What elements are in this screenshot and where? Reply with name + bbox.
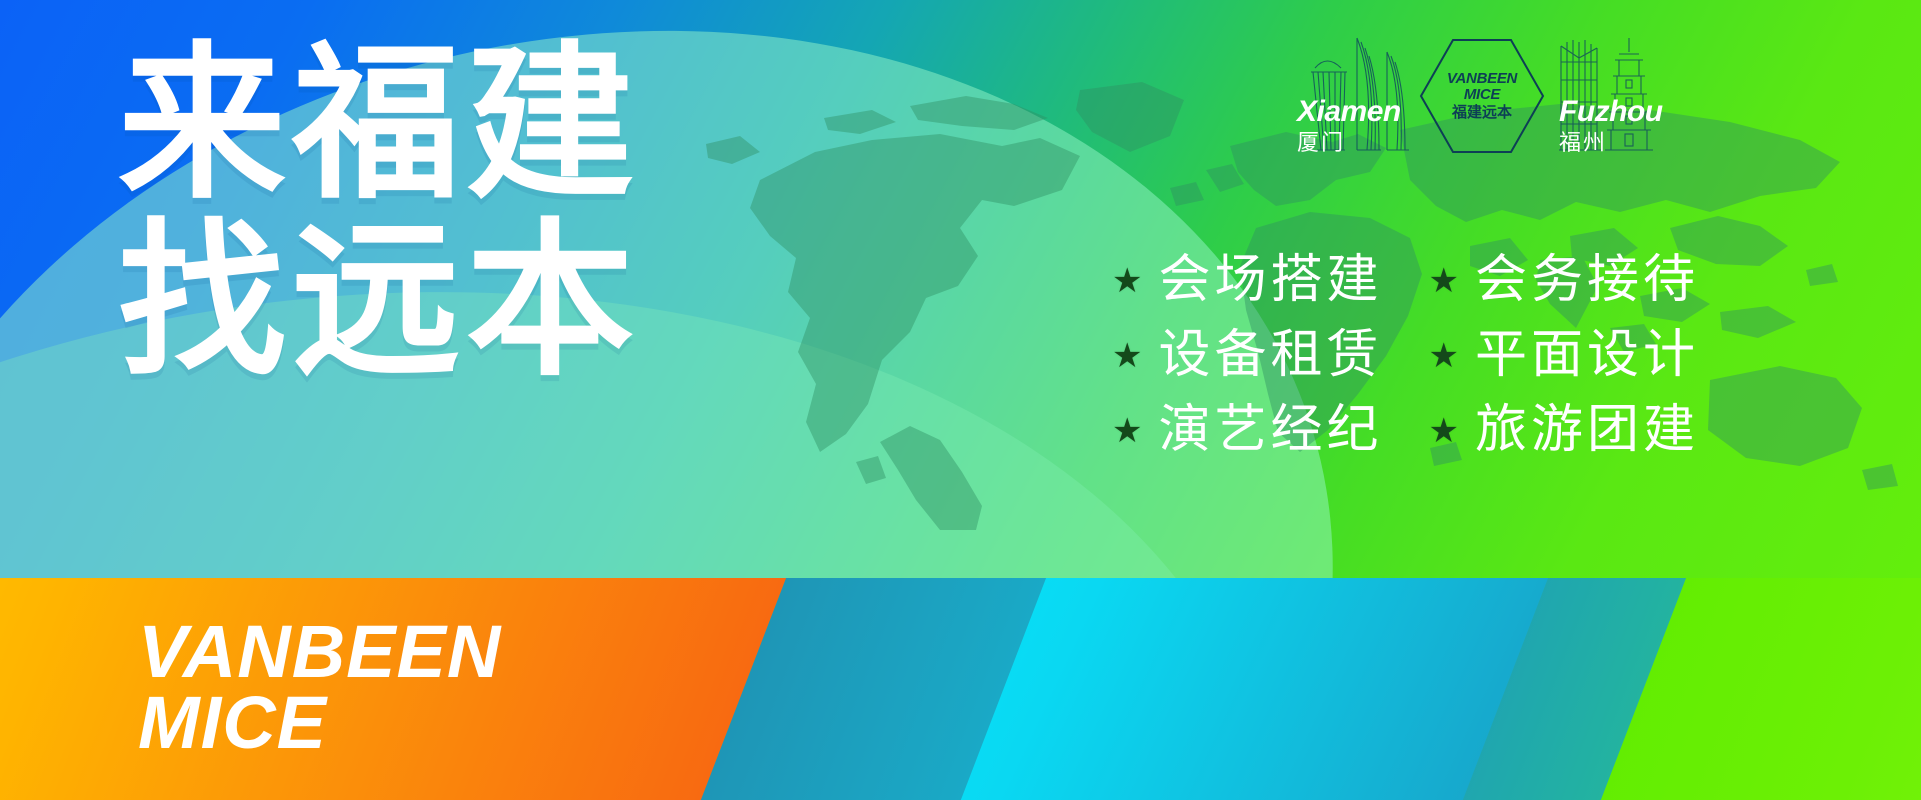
promo-banner: 来福建 找远本 [0, 0, 1921, 800]
footer-bar: VANBEEN MICE [0, 578, 1921, 800]
service-item: ★ 平面设计 [1429, 327, 1700, 384]
service-item: ★ 会场搭建 [1112, 252, 1383, 309]
service-item: ★ 会务接待 [1429, 252, 1700, 309]
services-list: ★ 会场搭建 ★ 会务接待 ★ 设备租赁 ★ 平面设计 ★ 演艺经纪 ★ 旅游团… [1112, 252, 1699, 460]
star-icon: ★ [1112, 339, 1142, 373]
city-fuzhou-name-cn: 福州 [1559, 132, 1663, 154]
city-xiamen: Xiamen 厦门 [1295, 97, 1413, 168]
service-label: 演艺经纪 [1158, 402, 1382, 459]
hero-section: 来福建 找远本 [0, 0, 1921, 578]
service-item: ★ 设备租赁 [1112, 327, 1383, 384]
vanbeen-hexagon-logo: VANBEEN MICE 福建远本 [1417, 32, 1547, 160]
hex-logo-line-1: VANBEEN [1447, 71, 1517, 87]
star-icon: ★ [1112, 414, 1142, 448]
wordmark-line-1: VANBEEN [138, 616, 501, 687]
brand-wordmark: VANBEEN MICE [138, 616, 501, 758]
star-icon: ★ [1429, 339, 1459, 373]
city-xiamen-name-en: Xiamen [1297, 97, 1401, 127]
city-fuzhou-text: Fuzhou 福州 [1559, 97, 1663, 168]
service-label: 会场搭建 [1158, 252, 1382, 309]
city-fuzhou-name-en: Fuzhou [1559, 97, 1663, 127]
star-icon: ★ [1112, 264, 1142, 298]
hexagon-logo-text: VANBEEN MICE 福建远本 [1447, 71, 1517, 121]
headline-line-1: 来福建 [118, 42, 640, 207]
city-xiamen-name-cn: 厦门 [1297, 132, 1401, 154]
wordmark-line-2: MICE [138, 687, 501, 758]
star-icon: ★ [1429, 414, 1459, 448]
service-label: 设备租赁 [1158, 327, 1382, 384]
service-item: ★ 旅游团建 [1429, 402, 1700, 459]
service-label: 旅游团建 [1475, 402, 1699, 459]
service-label: 平面设计 [1475, 327, 1699, 384]
hex-logo-line-2: MICE [1447, 87, 1517, 103]
service-label: 会务接待 [1475, 252, 1699, 309]
city-xiamen-text: Xiamen 厦门 [1297, 97, 1401, 168]
brand-lockup: Xiamen 厦门 VANBEEN MICE 福建远本 [1295, 8, 1682, 168]
page-title: 来福建 找远本 [118, 42, 640, 383]
headline-line-2: 找远本 [118, 219, 640, 384]
hex-logo-line-cn: 福建远本 [1447, 105, 1517, 121]
city-fuzhou: Fuzhou 福州 [1557, 97, 1682, 168]
star-icon: ★ [1429, 264, 1459, 298]
service-item: ★ 演艺经纪 [1112, 402, 1383, 459]
